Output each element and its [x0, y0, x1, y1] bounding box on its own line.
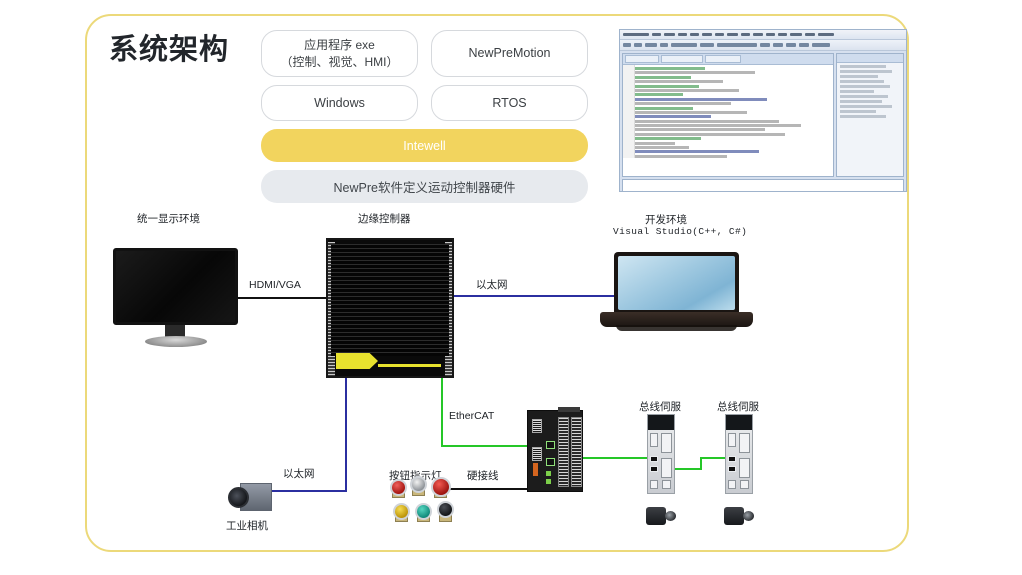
laptop-label-line1: 开发环境: [645, 212, 687, 227]
windows-box[interactable]: Windows: [261, 85, 418, 121]
controller-stripe: [378, 364, 441, 367]
io-led-1: [546, 471, 551, 476]
ide-solution-explorer[interactable]: [836, 53, 904, 177]
ethernet-camera-link-vertical: [345, 378, 347, 491]
camera-lens: [228, 487, 249, 508]
ide-editor-tabs[interactable]: [623, 54, 833, 65]
camera-label: 工业相机: [226, 518, 268, 533]
servo-drive-1-header: [648, 415, 674, 430]
selector-switch: [437, 501, 454, 518]
servo-drive-2-header: [726, 415, 752, 430]
app-exe-sublabel: （控制、视觉、HMI）: [281, 54, 399, 70]
stack-row-applications: 应用程序 exe （控制、视觉、HMI） NewPreMotion: [261, 30, 588, 77]
io-led-2: [546, 479, 551, 484]
servo-motor-2: [724, 505, 754, 527]
laptop-front-edge: [616, 325, 737, 331]
lamp-yellow: [393, 503, 410, 520]
io-connector-lower: [532, 447, 542, 461]
ide-menu-bar: [620, 30, 906, 40]
io-module-top-cap: [558, 407, 580, 412]
io-orange-marker: [533, 463, 538, 476]
servo-drive-2-face: [726, 430, 752, 493]
hardware-bar[interactable]: NewPre软件定义运动控制器硬件: [261, 170, 588, 203]
laptop-label-line2: Visual Studio(C++, C#): [613, 226, 747, 237]
io-ethercat-port-out: [546, 458, 555, 466]
lamp-white: [410, 476, 427, 493]
app-exe-box[interactable]: 应用程序 exe （控制、视觉、HMI）: [261, 30, 418, 77]
ethernet-camera-link-label: 以太网: [283, 466, 315, 481]
laptop-screen: [618, 256, 735, 310]
servo-motor-1-body: [646, 507, 666, 525]
lamp-green: [415, 503, 432, 520]
hardwire-link-label: 硬接线: [467, 468, 499, 483]
ethernet-laptop-link-line: [452, 295, 616, 297]
controller-label: 边缘控制器: [358, 211, 411, 226]
edge-controller-device: [326, 238, 454, 378]
servo1-label: 总线伺服: [639, 399, 681, 414]
stack-row-os: Windows RTOS: [261, 85, 588, 121]
ethercat-io-servo1-line: [579, 457, 647, 459]
ide-body: [620, 51, 906, 179]
monitor-screen: [113, 248, 238, 325]
ide-panel-header: [837, 54, 903, 63]
push-button-indicator-lamps: [390, 473, 462, 525]
lamp-red-estop: [431, 477, 451, 497]
servo-drive-2: [725, 414, 753, 494]
servo-drive-1: [647, 414, 675, 494]
io-module-device: [527, 410, 583, 492]
monitor-label: 统一显示环境: [137, 211, 200, 226]
monitor-base: [145, 336, 207, 347]
io-connector-upper: [532, 419, 542, 433]
controller-logo: [336, 353, 441, 369]
ide-gutter: [623, 65, 635, 158]
controller-heatsink-fins: [331, 244, 449, 356]
page-title: 系统架构: [109, 35, 229, 67]
laptop-lid: [614, 252, 739, 314]
io-ethercat-port-in: [546, 441, 555, 449]
servo2-label: 总线伺服: [717, 399, 759, 414]
servo-drive-1-face: [648, 430, 674, 493]
ide-output-panel[interactable]: [622, 179, 904, 192]
ethernet-laptop-link-label: 以太网: [476, 277, 508, 292]
servo-motor-1-shaft: [665, 511, 676, 521]
servo-motor-2-body: [724, 507, 744, 525]
ethercat-link-vertical: [441, 378, 443, 446]
app-exe-label: 应用程序 exe: [281, 37, 399, 53]
ethercat-link-horizontal: [441, 445, 531, 447]
rtos-box[interactable]: RTOS: [431, 85, 588, 121]
newpremotion-box[interactable]: NewPreMotion: [431, 30, 588, 77]
ethercat-servo1-servo2-upper: [700, 457, 727, 459]
ethernet-camera-link-horizontal: [265, 490, 347, 492]
display-monitor: [113, 248, 238, 348]
hdmi-link-line: [238, 297, 330, 299]
intewell-bar[interactable]: Intewell: [261, 129, 588, 162]
lamp-red-1: [390, 479, 407, 496]
hdmi-link-label: HDMI/VGA: [249, 279, 301, 291]
ide-code-lines: [623, 65, 833, 158]
visual-studio-screenshot: [619, 29, 907, 192]
ethercat-link-label: EtherCAT: [449, 410, 494, 422]
development-laptop: [600, 252, 753, 337]
software-stack: 应用程序 exe （控制、视觉、HMI） NewPreMotion Window…: [261, 30, 588, 211]
ide-code-editor[interactable]: [622, 53, 834, 177]
servo-motor-2-shaft: [743, 511, 754, 521]
industrial-camera-device: [228, 483, 272, 513]
io-terminal-strip-1: [558, 417, 569, 487]
controller-brand-tag: [336, 353, 378, 369]
servo-motor-1: [646, 505, 676, 527]
slide-root: 系统架构 应用程序 exe （控制、视觉、HMI） NewPreMotion W…: [0, 0, 1022, 575]
ide-toolbar: [620, 40, 906, 51]
io-terminal-strip-2: [571, 417, 582, 487]
